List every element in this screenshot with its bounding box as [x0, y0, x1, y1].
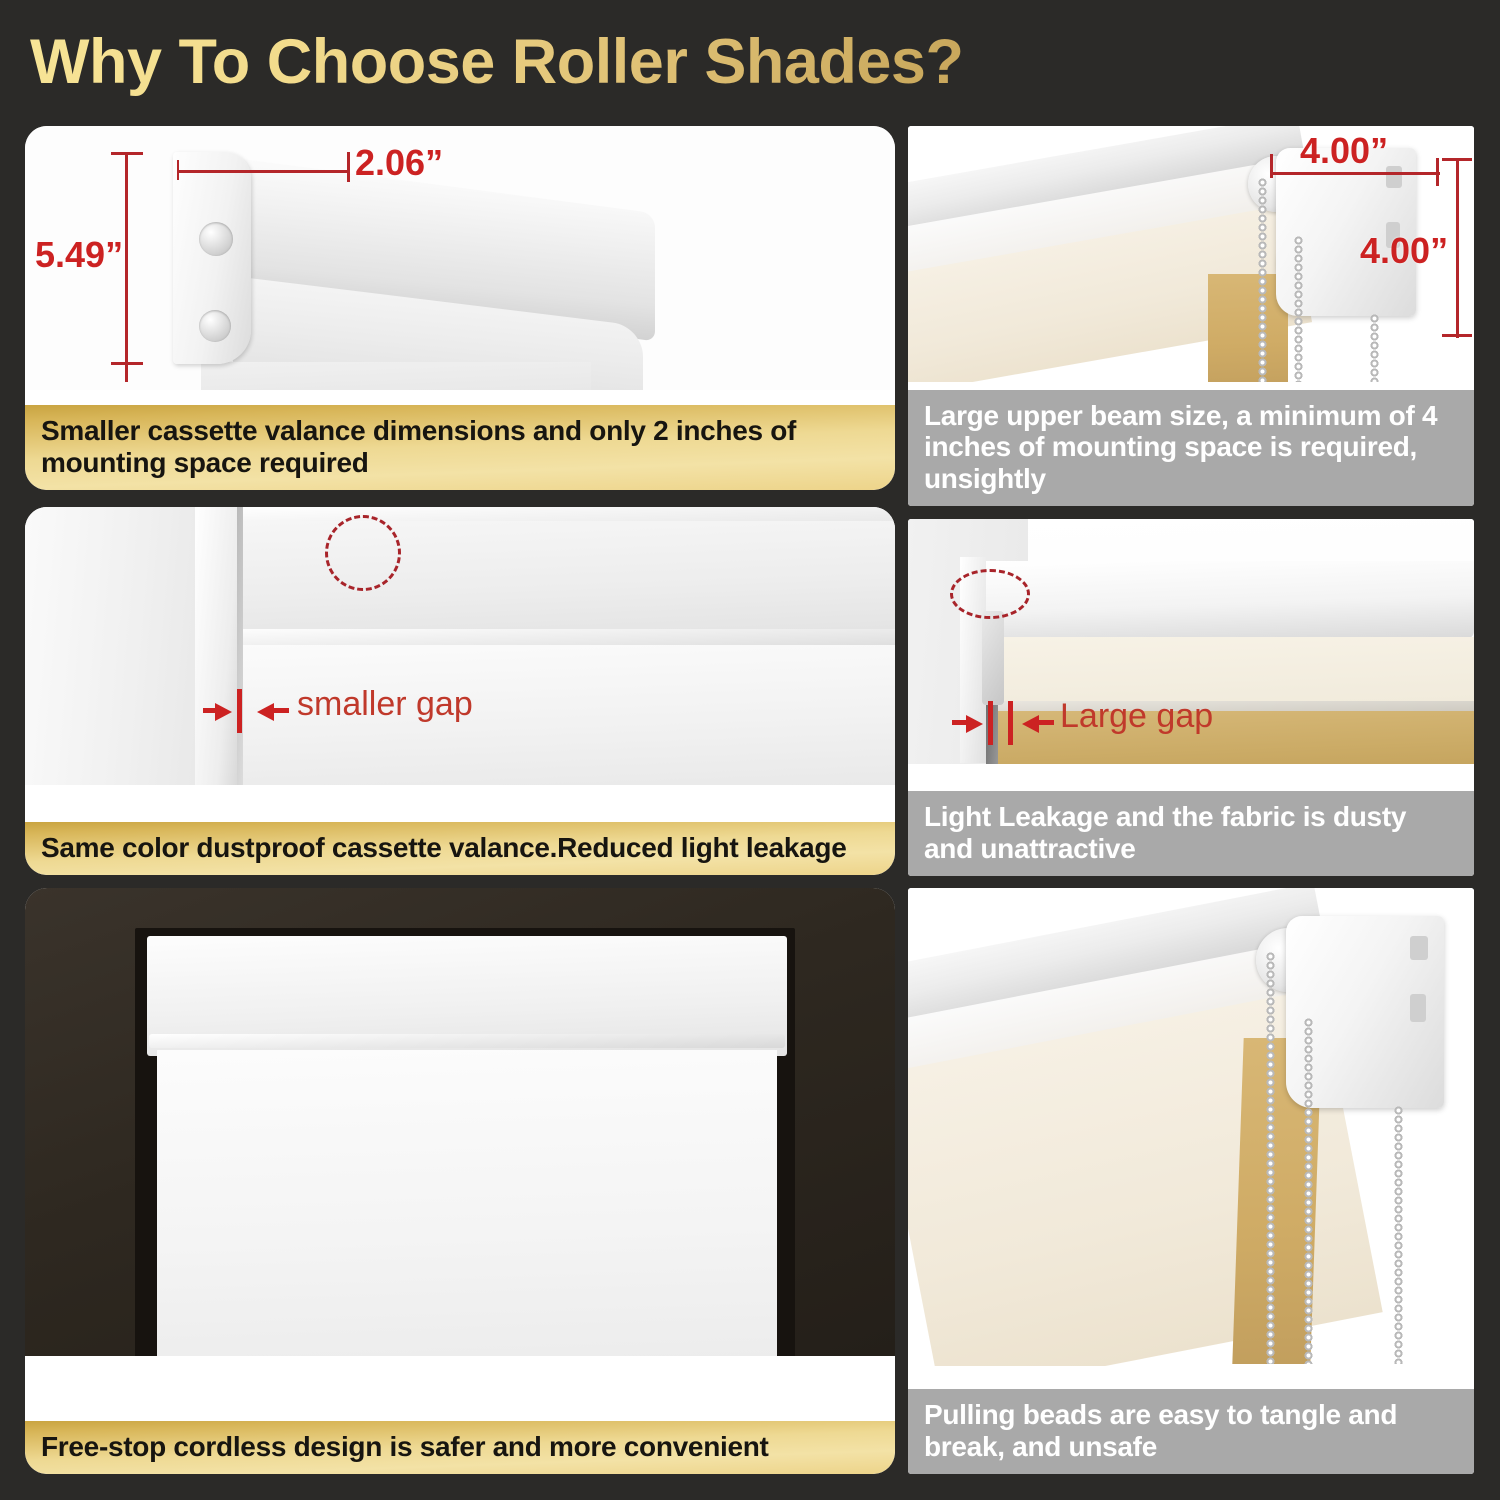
cream-fabric-band [996, 637, 1474, 701]
shade-fabric [157, 1050, 777, 1356]
panel-smaller-cassette: 2.06” 5.49” Smaller cassette valance dim… [25, 126, 895, 490]
panel-cordless-design: Free-stop cordless design is safer and m… [25, 888, 895, 1474]
gap-arrow-right-stem [203, 708, 219, 713]
panel-light-leakage: Large gap Light Leakage and the fabric i… [908, 519, 1474, 876]
gap-marker-bar-left [988, 701, 993, 745]
gap-callout-label: smaller gap [297, 685, 473, 724]
panel-1-photo: 2.06” 5.49” [25, 126, 895, 390]
bead-chain-mid [1304, 1018, 1313, 1364]
valance-lip [237, 629, 895, 645]
dimension-label-400-width: 4.00” [1300, 130, 1388, 172]
panel-6-photo [908, 888, 1474, 1366]
dim-line-beam-width [1270, 172, 1440, 175]
dim-cap-beam-bottom [1442, 334, 1472, 337]
cassette-end-cap [173, 152, 251, 364]
panel-2-photo: 4.00” 4.00” [908, 126, 1474, 382]
dim-cap-bottom [111, 362, 143, 365]
dim-tick-b [347, 152, 350, 182]
bracket-slot-1 [1410, 936, 1428, 960]
bead-chain-right [1394, 1106, 1403, 1364]
bead-chain-left [1258, 178, 1267, 382]
highlight-circle-icon [325, 515, 401, 591]
panel-pulling-beads: Pulling beads are easy to tangle and bre… [908, 888, 1474, 1474]
panel-1-caption: Smaller cassette valance dimensions and … [25, 405, 895, 490]
gap-arrow-left-icon [1022, 715, 1039, 733]
end-cap-screw [199, 310, 231, 342]
bracket-slot-1 [1386, 166, 1402, 188]
bead-chain-left [1266, 952, 1275, 1364]
panel-dustproof-valance: smaller gap Same color dustproof cassett… [25, 507, 895, 875]
bead-chain-mid [1294, 236, 1303, 382]
panel-2-caption: Large upper beam size, a minimum of 4 in… [908, 390, 1474, 506]
dim-line-height [125, 152, 128, 382]
roller-tube [986, 561, 1474, 639]
page-title: Why To Choose Roller Shades? [30, 22, 1230, 102]
panel-large-upper-beam: 4.00” 4.00” Large upper beam size, a min… [908, 126, 1474, 506]
shade-fabric-drop [201, 362, 591, 390]
gap-arrow-left-icon [257, 703, 274, 721]
bracket-slot-2 [1410, 994, 1426, 1022]
bead-chain-right [1370, 314, 1379, 382]
end-bracket [982, 611, 1004, 705]
panel-6-caption: Pulling beads are easy to tangle and bre… [908, 1389, 1474, 1474]
dim-line-beam-height [1456, 158, 1459, 338]
dim-cap-top [111, 152, 143, 155]
gap-marker-bar-right [1008, 701, 1013, 745]
dim-cap-beam-top [1442, 158, 1472, 161]
gap-arrow-right-stem [952, 720, 968, 725]
dimension-label-549: 5.49” [35, 234, 123, 276]
dimension-label-400-height: 4.00” [1360, 230, 1448, 272]
valance-top-edge [237, 507, 895, 521]
dimension-label-206: 2.06” [355, 142, 443, 184]
wall-surface [25, 507, 203, 785]
gap-arrow-left-stem [1038, 720, 1054, 725]
gap-callout-label: Large gap [1060, 697, 1213, 736]
dim-tick-h-right [1436, 158, 1439, 186]
gap-marker-bar [237, 689, 242, 733]
window-frame [195, 507, 237, 785]
shade-left-edge [237, 507, 243, 785]
gap-arrow-right-icon [966, 715, 983, 733]
end-cap-slot [199, 222, 233, 256]
panel-3-caption: Same color dustproof cassette valance.Re… [25, 822, 895, 875]
infographic-root: Why To Choose Roller Shades? 2.06” [0, 0, 1500, 1500]
dim-line-width [177, 170, 349, 173]
gap-arrow-left-stem [273, 708, 289, 713]
panel-5-caption: Free-stop cordless design is safer and m… [25, 1421, 895, 1474]
valance-lip [149, 1034, 785, 1048]
panel-3-photo: smaller gap [25, 507, 895, 785]
panel-5-photo [25, 888, 895, 1356]
panel-4-caption: Light Leakage and the fabric is dusty an… [908, 791, 1474, 876]
highlight-circle-icon [950, 569, 1030, 619]
panel-4-photo: Large gap [908, 519, 1474, 764]
